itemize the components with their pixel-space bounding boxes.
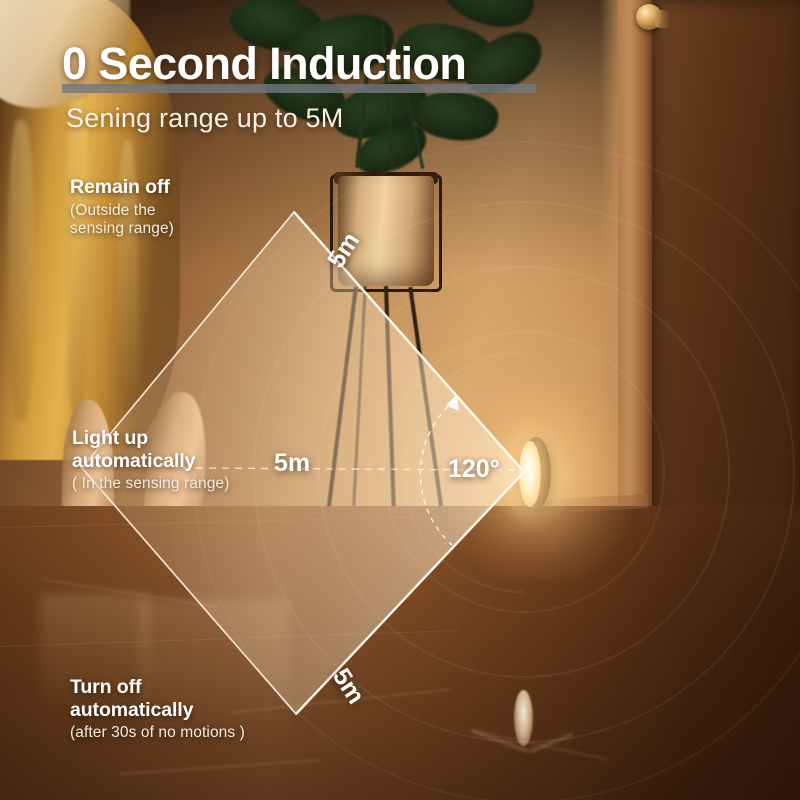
dress-fold <box>66 90 88 420</box>
light-fixture-floor-reflection <box>514 690 533 746</box>
callout-remain-off: Remain off (Outside the sensing range) <box>70 176 174 239</box>
callout-light-up-heading-line2: automatically <box>72 450 229 473</box>
callout-turn-off-heading: Turn off automatically <box>70 676 245 721</box>
page-subtitle: Sening range up to 5M <box>66 103 343 134</box>
door-knob-plate <box>655 10 669 28</box>
callout-light-up-subtext: ( In the sensing range) <box>72 475 229 494</box>
callout-remain-off-subtext-line1: (Outside the <box>70 202 174 221</box>
callout-remain-off-subtext-line2: sensing range) <box>70 220 174 239</box>
callout-light-up: Light up automatically ( In the sensing … <box>72 427 229 494</box>
callout-light-up-heading: Light up automatically <box>72 427 229 472</box>
callout-remain-off-subtext: (Outside the sensing range) <box>70 202 174 239</box>
potted-plant-foliage <box>236 0 536 192</box>
callout-turn-off-subtext: (after 30s of no motions ) <box>70 724 245 743</box>
product-feature-image: 0 Second Induction Sening range up to 5M… <box>0 0 800 800</box>
page-title: 0 Second Induction <box>62 40 466 87</box>
range-label-horizontal: 5m <box>274 449 310 478</box>
planter-pot <box>338 176 434 286</box>
callout-light-up-heading-line1: Light up <box>72 427 229 450</box>
header-block: 0 Second Induction <box>62 40 466 87</box>
callout-turn-off: Turn off automatically (after 30s of no … <box>70 676 245 743</box>
callout-turn-off-heading-line1: Turn off <box>70 676 245 699</box>
callout-turn-off-heading-line2: automatically <box>70 699 245 722</box>
dress-fold <box>8 120 34 420</box>
light-glow <box>519 441 541 507</box>
callout-remain-off-heading: Remain off <box>70 176 174 199</box>
detection-angle-label: 120° <box>448 455 500 484</box>
